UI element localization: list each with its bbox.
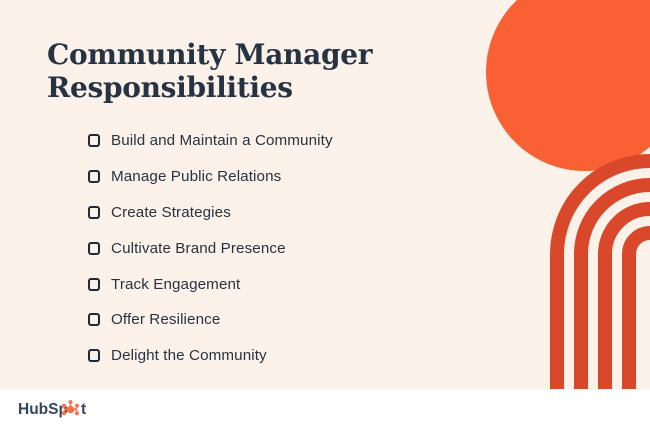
list-item[interactable]: Delight the Community: [88, 338, 488, 374]
list-item[interactable]: Create Strategies: [88, 195, 488, 231]
list-item-label: Track Engagement: [111, 276, 240, 293]
responsibilities-checklist: Build and Maintain a Community Manage Pu…: [88, 123, 488, 374]
list-item-label: Manage Public Relations: [111, 168, 281, 185]
list-item-label: Offer Resilience: [111, 311, 220, 328]
orange-circle: [486, 0, 650, 171]
checkbox-icon[interactable]: [88, 170, 100, 183]
logo-wordmark-part-1: HubSp: [18, 401, 68, 418]
slide-canvas: Community Manager Responsibilities Build…: [0, 0, 650, 433]
list-item-label: Delight the Community: [111, 347, 267, 364]
list-item-label: Build and Maintain a Community: [111, 132, 333, 149]
hubspot-logo[interactable]: HubSp t: [18, 398, 102, 420]
list-item[interactable]: Manage Public Relations: [88, 159, 488, 195]
checkbox-icon[interactable]: [88, 349, 100, 362]
checkbox-icon[interactable]: [88, 313, 100, 326]
list-item-label: Create Strategies: [111, 204, 231, 221]
checkbox-icon[interactable]: [88, 278, 100, 291]
checkbox-icon[interactable]: [88, 206, 100, 219]
list-item[interactable]: Track Engagement: [88, 266, 488, 302]
title-line-2: Responsibilities: [47, 71, 293, 104]
concentric-arcs: [557, 161, 650, 389]
logo-wordmark-part-2: t: [81, 401, 86, 418]
title-line-1: Community Manager: [47, 38, 372, 71]
hubspot-logo-icon: HubSp t: [18, 398, 102, 420]
page-title: Community Manager Responsibilities: [47, 38, 447, 104]
list-item[interactable]: Cultivate Brand Presence: [88, 230, 488, 266]
list-item[interactable]: Build and Maintain a Community: [88, 123, 488, 159]
checkbox-icon[interactable]: [88, 134, 100, 147]
list-item[interactable]: Offer Resilience: [88, 302, 488, 338]
checkbox-icon[interactable]: [88, 242, 100, 255]
list-item-label: Cultivate Brand Presence: [111, 240, 286, 257]
